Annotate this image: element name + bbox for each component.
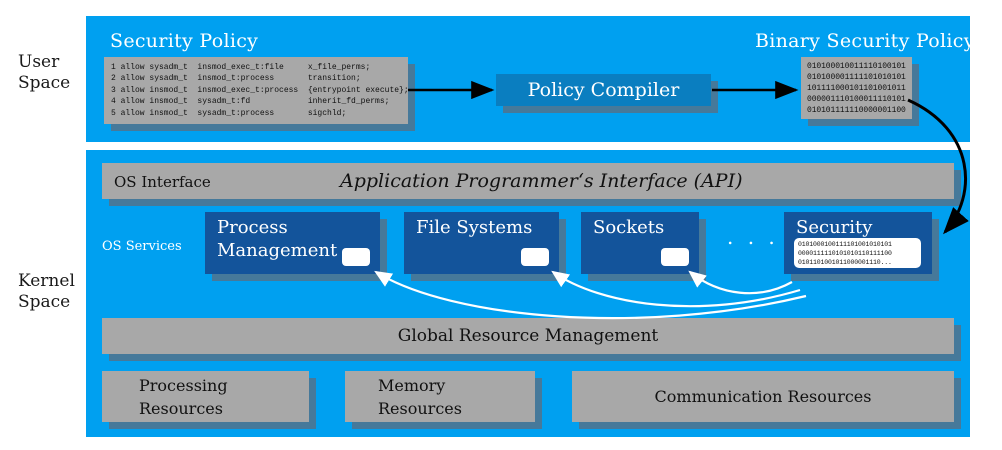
global-resource-management-bar: Global Resource Management xyxy=(102,318,954,354)
security-policy-code-box: 1 allow sysadm_t insmod_exec_t:file x_fi… xyxy=(104,57,408,124)
api-label: Application Programmer‘s Interface (API) xyxy=(340,170,743,192)
policy-code-line: 5 allow insmod_t sysadm_t:process sigchl… xyxy=(111,108,401,119)
binary-line: 010101111110000001100 xyxy=(807,105,907,116)
service-box-process-management: Process Management xyxy=(205,212,380,274)
policy-code-line: 3 allow insmod_t insmod_exec_t:process {… xyxy=(111,85,401,96)
policy-compiler-box: Policy Compiler xyxy=(496,74,711,106)
kernel-space-label: Kernel Space xyxy=(18,271,75,313)
diagram-canvas: User Space Kernel Space Security Policy … xyxy=(0,0,1002,450)
security-hook-chip xyxy=(521,248,549,266)
global-resource-management-label: Global Resource Management xyxy=(102,318,954,354)
binary-line: 0101000100111101001010101 xyxy=(798,240,918,249)
os-services-label: OS Services xyxy=(102,239,182,254)
services-ellipsis: . . . xyxy=(727,225,779,249)
os-interface-label: OS Interface xyxy=(114,173,211,191)
binary-line: 000001110100011110101 xyxy=(807,94,907,105)
policy-code-line: 4 allow insmod_t sysadm_t:fd inherit_fd_… xyxy=(111,96,401,107)
resource-box-label: Memory Resources xyxy=(378,374,462,420)
security-server-binary-chip: 0101000100111101001010101 00001111101010… xyxy=(794,238,921,268)
binary-line: 010100010011110100101 xyxy=(807,61,907,72)
resource-box-communication: Communication Resources xyxy=(572,371,954,422)
security-policy-title: Security Policy xyxy=(110,30,258,52)
service-box-label: Sockets xyxy=(593,216,664,239)
user-space-label: User Space xyxy=(18,52,70,94)
policy-compiler-label: Policy Compiler xyxy=(496,74,711,106)
resource-box-label: Communication Resources xyxy=(572,385,954,408)
service-box-label: Process Management xyxy=(217,216,337,262)
service-box-label: File Systems xyxy=(416,216,532,239)
service-box-security-server: Security Server 010100010011110100101010… xyxy=(784,212,932,274)
resource-box-memory: Memory Resources xyxy=(345,371,535,422)
security-hook-chip xyxy=(661,248,689,266)
binary-line: 0101101001011000001110... xyxy=(798,258,918,267)
binary-line: 101111000101101001011 xyxy=(807,83,907,94)
binary-security-policy-title: Binary Security Policy xyxy=(755,30,975,52)
binary-line: 010100001111101010101 xyxy=(807,72,907,83)
resource-box-label: Processing Resources xyxy=(139,374,228,420)
resource-box-processing: Processing Resources xyxy=(102,371,309,422)
service-box-sockets: Sockets xyxy=(581,212,699,274)
policy-code-line: 2 allow sysadm_t insmod_t:process transi… xyxy=(111,73,401,84)
policy-code-line: 1 allow sysadm_t insmod_exec_t:file x_fi… xyxy=(111,62,401,73)
service-box-file-systems: File Systems xyxy=(404,212,559,274)
security-hook-chip xyxy=(342,248,370,266)
binary-security-policy-box: 010100010011110100101 010100001111101010… xyxy=(801,57,912,119)
binary-line: 0000111110101010110111100 xyxy=(798,249,918,258)
